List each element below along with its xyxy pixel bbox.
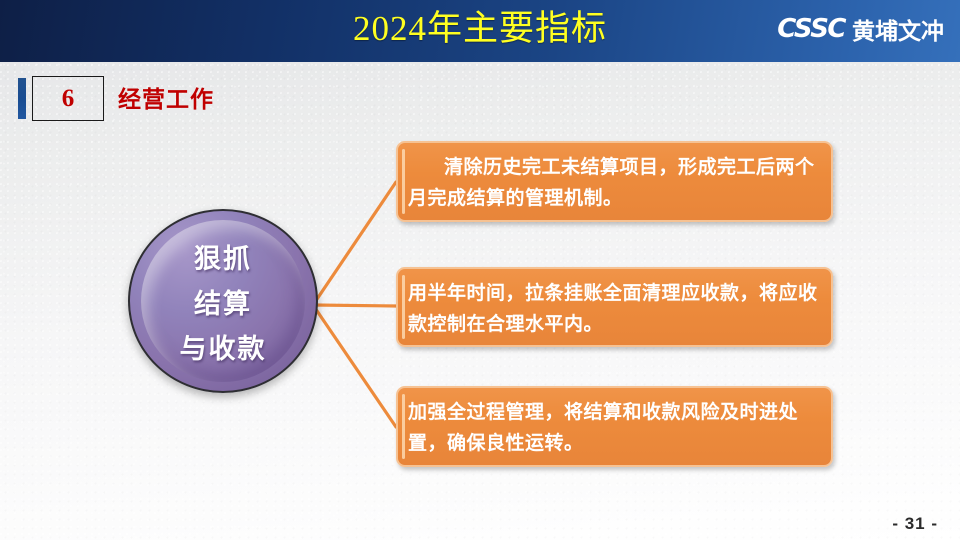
hub-line-2: 结算 bbox=[194, 282, 252, 321]
callout-box-1: 清除历史完工未结算项目，形成完工后两个月完成结算的管理机制。 bbox=[396, 141, 833, 222]
callout-box-2: 用半年时间，拉条挂账全面清理应收款，将应收款控制在合理水平内。 bbox=[396, 267, 833, 347]
hub-line-1: 狠抓 bbox=[194, 237, 252, 276]
company-logo: CSSC 黄埔文冲 bbox=[777, 12, 944, 46]
cssc-logo-mark: CSSC bbox=[777, 14, 845, 44]
section-title: 经营工作 bbox=[118, 80, 214, 114]
callout-text-3: 加强全过程管理，将结算和收款风险及时进处置，确保良性运转。 bbox=[408, 402, 798, 454]
hub-line-3: 与收款 bbox=[180, 327, 267, 366]
callout-box-3: 加强全过程管理，将结算和收款风险及时进处置，确保良性运转。 bbox=[396, 386, 833, 467]
callout-text-1: 清除历史完工未结算项目，形成完工后两个月完成结算的管理机制。 bbox=[408, 157, 815, 209]
connector-line-2 bbox=[313, 305, 396, 306]
hub-circle: 狠抓 结算 与收款 bbox=[128, 209, 318, 393]
hub-label: 狠抓 结算 与收款 bbox=[130, 211, 316, 391]
connector-line-1 bbox=[313, 182, 396, 305]
section-accent-bar bbox=[18, 78, 26, 119]
page-number: - 31 - bbox=[892, 514, 938, 534]
cssc-logo-name: 黄埔文冲 bbox=[852, 12, 944, 46]
section-number: 6 bbox=[32, 76, 104, 121]
slide-canvas: 2024年主要指标 CSSC 黄埔文冲 6 经营工作 狠抓 结算 与收款 清除历… bbox=[0, 0, 960, 540]
slide-header: 2024年主要指标 CSSC 黄埔文冲 bbox=[0, 0, 960, 62]
connector-line-3 bbox=[313, 305, 396, 427]
callout-text-2: 用半年时间，拉条挂账全面清理应收款，将应收款控制在合理水平内。 bbox=[408, 283, 818, 335]
